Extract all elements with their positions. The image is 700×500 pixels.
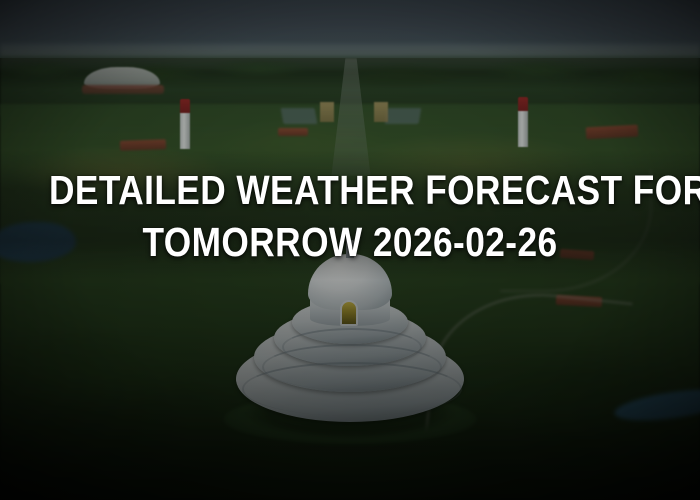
red-white-tower: [518, 97, 528, 147]
banner-title: DETAILED WEATHER FORECAST FOR BIHAR TOMO…: [0, 164, 700, 268]
garden-gateway: [320, 102, 334, 122]
reflecting-pool: [281, 108, 318, 124]
golden-buddha-niche: [340, 300, 358, 326]
red-roof-building: [278, 128, 308, 136]
garden-gateway: [374, 102, 388, 122]
banner-title-line-1: DETAILED WEATHER FORECAST FOR BIHAR: [49, 164, 651, 216]
tower-shaft: [518, 111, 528, 147]
weather-forecast-hero-banner: DETAILED WEATHER FORECAST FOR BIHAR TOMO…: [0, 0, 700, 500]
white-stupa-monument: [236, 262, 464, 430]
tower-shaft: [180, 113, 190, 149]
red-white-tower: [180, 99, 190, 149]
tower-cap: [180, 99, 190, 113]
tower-cap: [518, 97, 528, 111]
reflecting-pool: [385, 108, 422, 124]
stadium-base: [82, 85, 164, 94]
terrace-rim: [282, 328, 422, 366]
banner-title-line-2: TOMORROW 2026-02-26: [49, 216, 651, 268]
